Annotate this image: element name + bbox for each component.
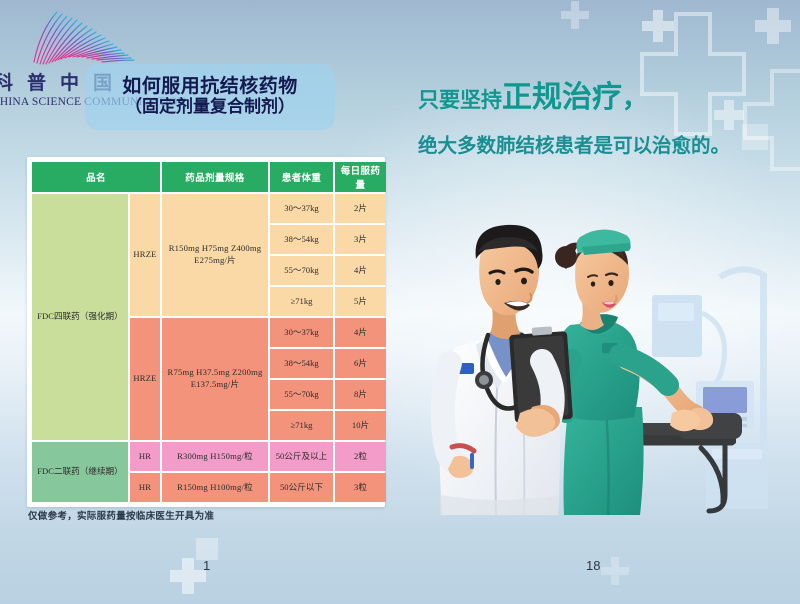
column-header-daily-dose: 每日服药量 bbox=[335, 162, 386, 192]
weight-cell: 55～70kg bbox=[270, 380, 333, 409]
filled-square-decoration bbox=[196, 538, 218, 560]
slide-canvas: 科普中国 CHINA SCIENCE COMMUNICATION 如何服用抗结核… bbox=[0, 0, 800, 604]
title-line-2: （固定剂量复合制剂） bbox=[125, 99, 295, 117]
weight-cell: ≥71kg bbox=[270, 287, 333, 316]
group-label-cell: FDC二联药（继续期） bbox=[32, 442, 128, 502]
weight-cell: ≥71kg bbox=[270, 411, 333, 440]
page-title: 如何服用抗结核药物 （固定剂量复合制剂） bbox=[85, 64, 335, 130]
dose-cell: 4片 bbox=[335, 256, 386, 285]
dose-cell: 6片 bbox=[335, 349, 386, 378]
page-number-right: 18 bbox=[586, 558, 600, 573]
regimen-code-cell: HRZE bbox=[130, 194, 160, 316]
title-line-1: 如何服用抗结核药物 bbox=[122, 77, 298, 97]
medical-equipment-illustration bbox=[624, 269, 768, 511]
weight-cell: 55～70kg bbox=[270, 256, 333, 285]
table-footnote: 仅做参考，实际服药量按临床医生开具为准 bbox=[28, 508, 214, 522]
filled-cross-icon bbox=[600, 556, 630, 586]
weight-cell: 50公斤及以上 bbox=[270, 442, 333, 471]
wing-gradient-logo-mark bbox=[24, 8, 144, 70]
column-header-weight: 患者体重 bbox=[270, 162, 333, 192]
regimen-code-cell: HR bbox=[130, 473, 160, 502]
headline: 只要坚持 正规治疗 ， 绝大多数肺结核患者是可以治愈的。 bbox=[418, 72, 788, 158]
table-row: FDC二联药（继续期） HR R300mg H150mg/粒 50公斤及以上 2… bbox=[32, 442, 386, 471]
dose-cell: 8片 bbox=[335, 380, 386, 409]
dosage-table-container: 品名 药品剂量规格 患者体重 每日服药量 FDC四联药（强化期） HRZE R1… bbox=[27, 157, 385, 507]
table-header-row: 品名 药品剂量规格 患者体重 每日服药量 bbox=[32, 162, 386, 192]
column-header-product: 品名 bbox=[32, 162, 160, 192]
group-label-cell: FDC四联药（强化期） bbox=[32, 194, 128, 440]
filled-cross-icon bbox=[640, 8, 676, 44]
doctor-and-nurse-illustration bbox=[420, 195, 800, 535]
headline-comma: ， bbox=[622, 78, 648, 115]
dosage-table: 品名 药品剂量规格 患者体重 每日服药量 FDC四联药（强化期） HRZE R1… bbox=[30, 160, 388, 504]
weight-cell: 30～37kg bbox=[270, 194, 333, 223]
dose-cell: 5片 bbox=[335, 287, 386, 316]
filled-cross-icon bbox=[168, 556, 208, 596]
regimen-code-cell: HR bbox=[130, 442, 160, 471]
dose-cell: 2片 bbox=[335, 194, 386, 223]
dose-cell: 3片 bbox=[335, 225, 386, 254]
headline-row-2: 绝大多数肺结核患者是可以治愈的。 bbox=[418, 129, 788, 158]
table-row: FDC四联药（强化期） HRZE R150mg H75mg Z400mg E27… bbox=[32, 194, 386, 223]
regimen-spec-cell: R150mg H75mg Z400mg E275mg/片 bbox=[162, 194, 268, 316]
regimen-spec-cell: R300mg H150mg/粒 bbox=[162, 442, 268, 471]
headline-emphasis: 正规治疗 bbox=[502, 72, 622, 116]
dose-cell: 10片 bbox=[335, 411, 386, 440]
regimen-spec-cell: R75mg H37.5mg Z200mg E137.5mg/片 bbox=[162, 318, 268, 440]
regimen-spec-cell: R150mg H100mg/粒 bbox=[162, 473, 268, 502]
headline-row-1: 只要坚持 正规治疗 ， bbox=[418, 72, 788, 116]
weight-cell: 38～54kg bbox=[270, 225, 333, 254]
headline-prefix: 只要坚持 bbox=[418, 84, 502, 114]
column-header-spec: 药品剂量规格 bbox=[162, 162, 268, 192]
dose-cell: 2粒 bbox=[335, 442, 386, 471]
nurse-figure bbox=[554, 229, 713, 515]
regimen-code-cell: HRZE bbox=[130, 318, 160, 440]
page-number-left: 1 bbox=[203, 558, 210, 573]
weight-cell: 50公斤以下 bbox=[270, 473, 333, 502]
weight-cell: 38～54kg bbox=[270, 349, 333, 378]
filled-cross-icon bbox=[753, 6, 793, 46]
doctor-figure bbox=[439, 225, 573, 515]
dose-cell: 4片 bbox=[335, 318, 386, 347]
filled-cross-icon bbox=[560, 0, 590, 30]
dose-cell: 3粒 bbox=[335, 473, 386, 502]
weight-cell: 30～37kg bbox=[270, 318, 333, 347]
